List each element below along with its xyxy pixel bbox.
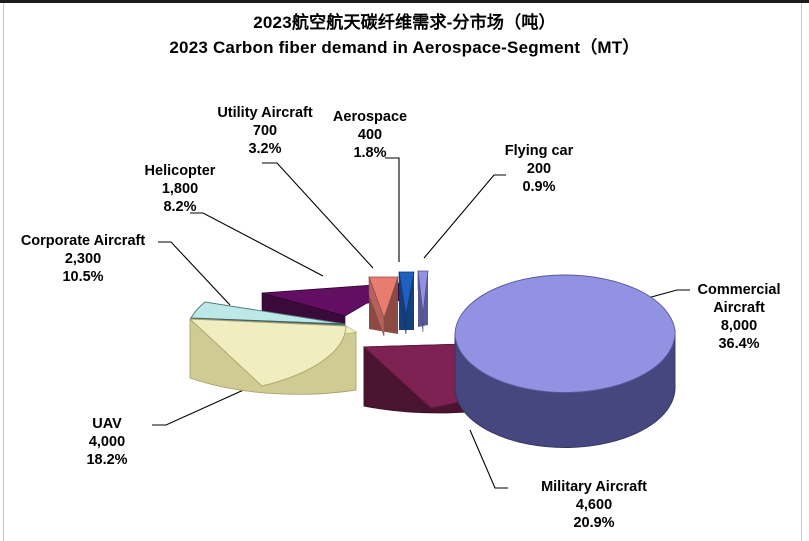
label-corporate-aircraft: Corporate Aircraft 2,300 10.5% [8, 232, 158, 286]
label-military-aircraft-name: Military Aircraft [509, 478, 679, 496]
leader-military-aircraft [470, 430, 508, 488]
label-flying-car-percent: 0.9% [474, 178, 604, 196]
slice-uav[interactable] [190, 319, 356, 394]
label-military-aircraft-percent: 20.9% [509, 514, 679, 532]
label-commercial-aircraft-value: 8,000 [680, 317, 798, 335]
label-commercial-aircraft: Commercial Aircraft 8,000 36.4% [680, 281, 798, 353]
label-helicopter: Helicopter 1,800 8.2% [100, 162, 260, 216]
label-commercial-aircraft-name1: Commercial [680, 281, 798, 299]
label-aerospace-value: 400 [310, 126, 430, 144]
leader-uav [152, 388, 248, 425]
slice-commercial-aircraft[interactable] [455, 275, 675, 448]
label-military-aircraft-value: 4,600 [509, 496, 679, 514]
label-flying-car-value: 200 [474, 160, 604, 178]
label-aerospace: Aerospace 400 1.8% [310, 108, 430, 162]
label-uav-name: UAV [62, 415, 152, 433]
chart-canvas: 2023航空航天碳纤维需求-分市场（吨） 2023 Carbon fiber d… [0, 0, 809, 541]
label-flying-car-name: Flying car [474, 142, 604, 160]
label-commercial-aircraft-percent: 36.4% [680, 335, 798, 353]
label-flying-car: Flying car 200 0.9% [474, 142, 604, 196]
slice-flying-car[interactable] [418, 271, 428, 332]
label-commercial-aircraft-name2: Aircraft [680, 299, 798, 317]
leader-aerospace [385, 158, 399, 262]
slice-utility-aircraft[interactable] [369, 277, 398, 336]
label-uav: UAV 4,000 18.2% [62, 415, 152, 469]
label-helicopter-name: Helicopter [100, 162, 260, 180]
label-aerospace-name: Aerospace [310, 108, 430, 126]
label-aerospace-percent: 1.8% [310, 144, 430, 162]
slice-aerospace[interactable] [399, 272, 414, 334]
leader-helicopter [190, 213, 323, 276]
label-helicopter-percent: 8.2% [100, 198, 260, 216]
label-corporate-aircraft-percent: 10.5% [8, 268, 158, 286]
label-helicopter-value: 1,800 [100, 180, 260, 198]
label-corporate-aircraft-value: 2,300 [8, 250, 158, 268]
label-uav-percent: 18.2% [62, 451, 152, 469]
label-uav-value: 4,000 [62, 433, 152, 451]
label-military-aircraft: Military Aircraft 4,600 20.9% [509, 478, 679, 532]
leader-corporate-aircraft [158, 242, 230, 305]
label-corporate-aircraft-name: Corporate Aircraft [8, 232, 158, 250]
